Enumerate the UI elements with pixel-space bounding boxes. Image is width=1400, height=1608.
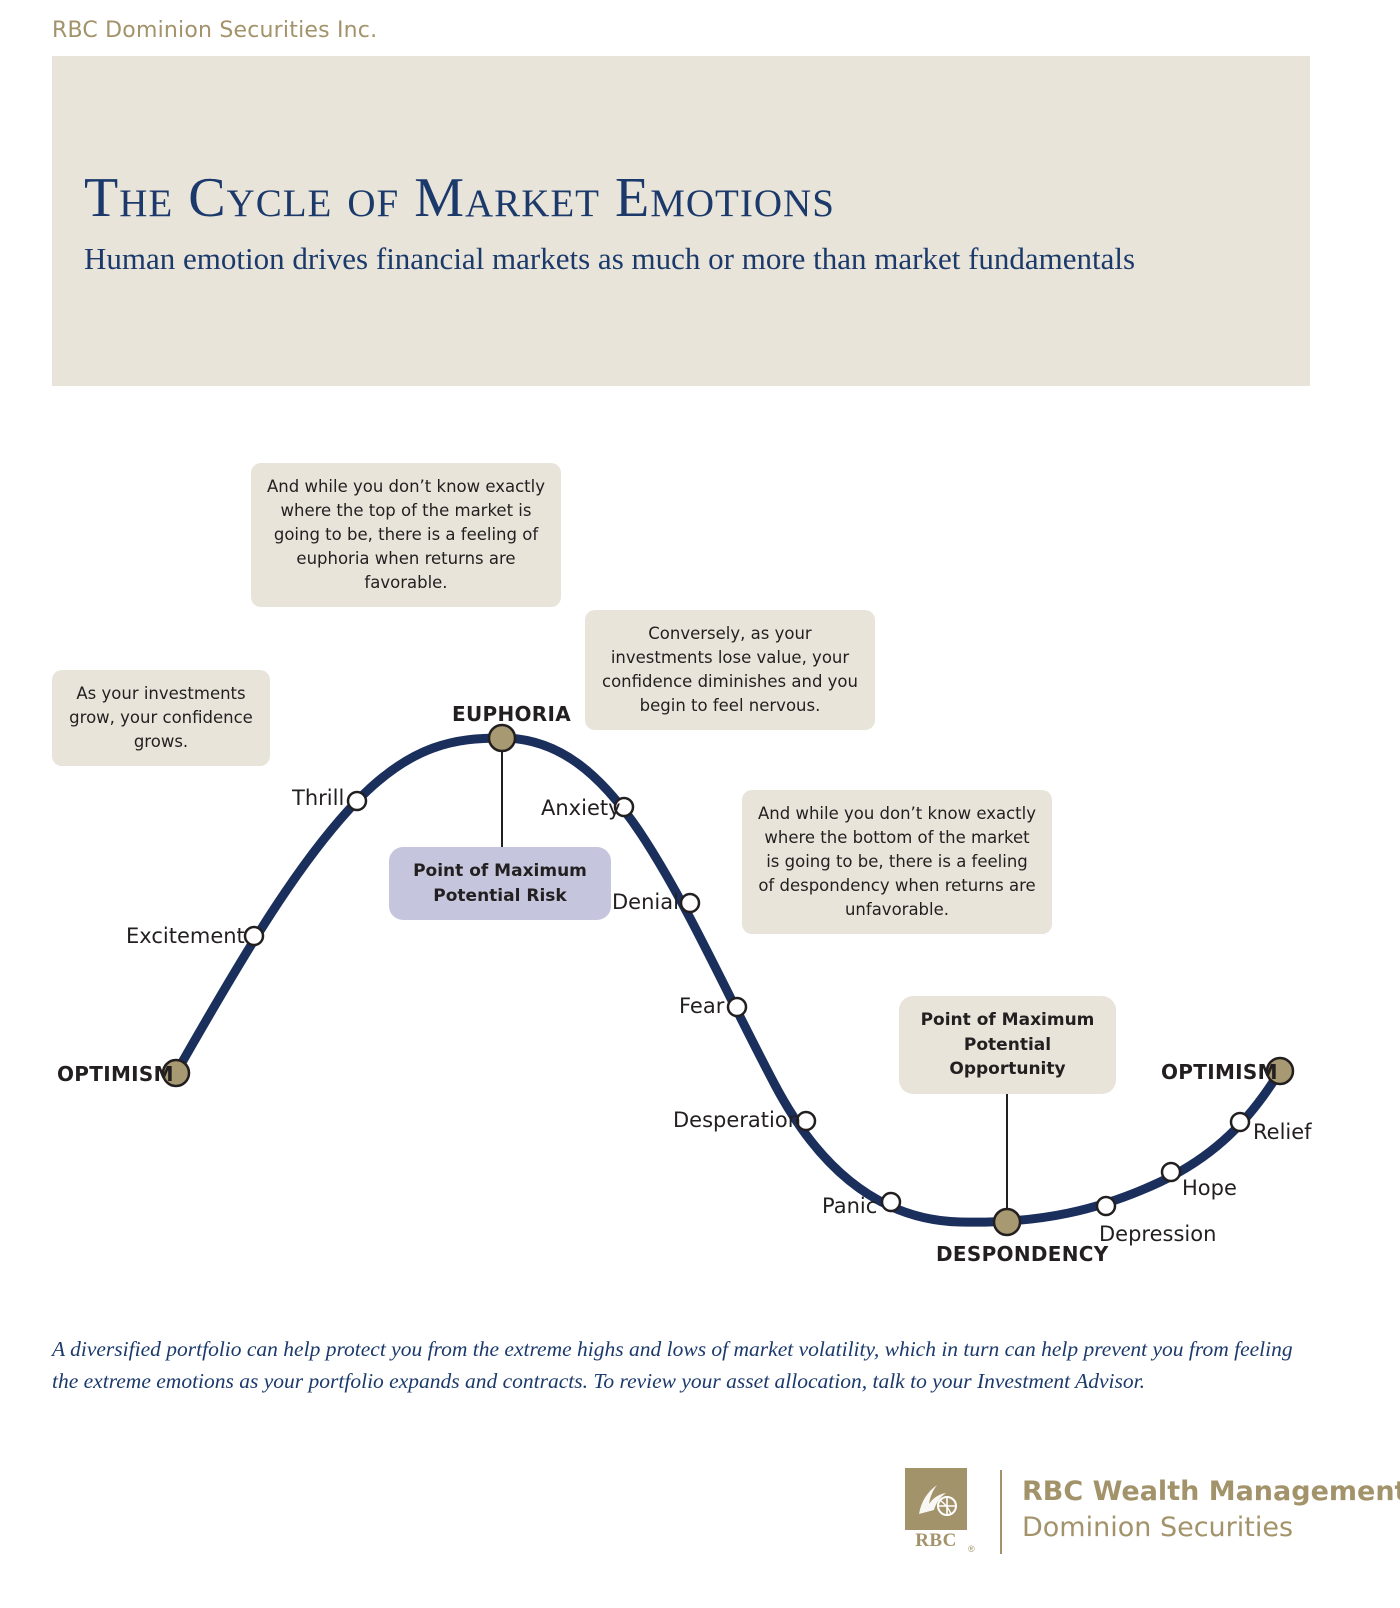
registered-trademark-icon: ® bbox=[968, 1544, 975, 1554]
logo-secondary-text: Dominion Securities bbox=[1022, 1512, 1293, 1543]
emotion-curve-path bbox=[176, 738, 1280, 1222]
label-hope: Hope bbox=[1182, 1176, 1237, 1200]
callout-euphoria-top: And while you don’t know exactly where t… bbox=[251, 463, 561, 607]
label-relief: Relief bbox=[1253, 1120, 1312, 1144]
label-fear: Fear bbox=[679, 994, 724, 1018]
label-euphoria: EUPHORIA bbox=[452, 702, 571, 726]
page-title: The Cycle of Market Emotions bbox=[84, 166, 835, 230]
marker-hope bbox=[1162, 1163, 1180, 1181]
label-despondency: DESPONDENCY bbox=[936, 1242, 1109, 1266]
label-optimism-start: OPTIMISM bbox=[57, 1062, 174, 1086]
label-excitement: Excitement bbox=[126, 924, 245, 948]
rbc-lion-glyph bbox=[905, 1468, 967, 1530]
footer-disclaimer: A diversified portfolio can help protect… bbox=[52, 1333, 1302, 1398]
emotion-curve-svg bbox=[0, 430, 1400, 1300]
marker-thrill bbox=[348, 792, 366, 810]
marker-despondency bbox=[994, 1209, 1020, 1235]
callout-max-opportunity: Point of Maximum Potential Opportunity bbox=[899, 996, 1116, 1094]
marker-fear bbox=[728, 998, 746, 1016]
company-name: RBC Dominion Securities Inc. bbox=[52, 18, 377, 43]
rbc-wordmark: RBC bbox=[905, 1530, 967, 1552]
marker-excitement bbox=[245, 927, 263, 945]
callout-confidence-diminishes: Conversely, as your investments lose val… bbox=[585, 610, 875, 730]
label-denial: Denial bbox=[612, 890, 679, 914]
callout-confidence-grows: As your investments grow, your confidenc… bbox=[52, 670, 270, 766]
marker-panic bbox=[882, 1193, 900, 1211]
marker-depression bbox=[1097, 1197, 1115, 1215]
page-subtitle: Human emotion drives financial markets a… bbox=[84, 241, 1135, 277]
rbc-logo: RBC ® RBC Wealth Management Dominion Sec… bbox=[905, 1468, 1325, 1558]
emotion-cycle-chart: OPTIMISM Excitement Thrill EUPHORIA Anxi… bbox=[0, 430, 1400, 1300]
label-desperation: Desperation bbox=[673, 1108, 801, 1132]
label-anxiety: Anxiety bbox=[541, 796, 621, 820]
label-thrill: Thrill bbox=[292, 786, 344, 810]
rbc-lion-shield-icon bbox=[905, 1468, 967, 1530]
marker-euphoria bbox=[489, 725, 515, 751]
label-panic: Panic bbox=[822, 1194, 877, 1218]
label-optimism-end: OPTIMISM bbox=[1161, 1060, 1278, 1084]
title-banner: The Cycle of Market Emotions Human emoti… bbox=[52, 56, 1310, 386]
label-depression: Depression bbox=[1099, 1222, 1216, 1246]
marker-denial bbox=[681, 894, 699, 912]
marker-relief bbox=[1231, 1113, 1249, 1131]
logo-divider bbox=[1000, 1470, 1002, 1554]
logo-primary-text: RBC Wealth Management bbox=[1022, 1476, 1400, 1507]
callout-max-risk: Point of Maximum Potential Risk bbox=[389, 847, 611, 920]
callout-despondency-bottom: And while you don’t know exactly where t… bbox=[742, 790, 1052, 934]
